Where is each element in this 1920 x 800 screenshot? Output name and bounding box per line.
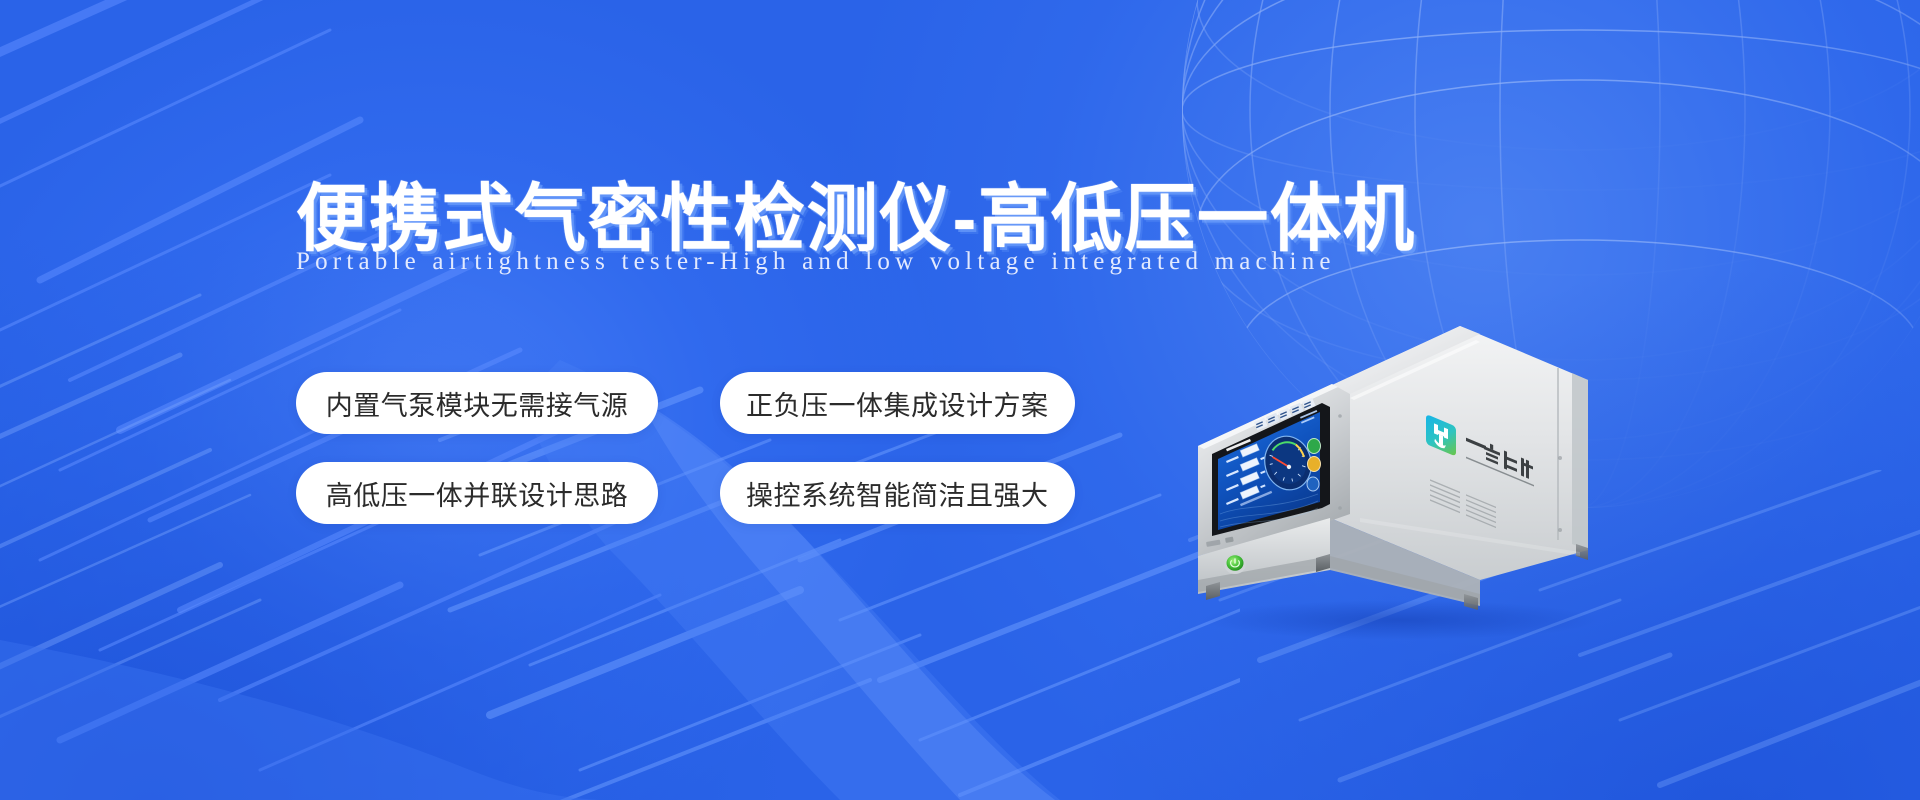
banner-stage: 便携式气密性检测仪-高低压一体机 Portable airtightness t… bbox=[0, 0, 1920, 800]
page-subtitle: Portable airtightness tester-High and lo… bbox=[296, 248, 1696, 276]
product-image-airtightness-tester bbox=[1180, 318, 1610, 618]
power-button bbox=[1224, 554, 1246, 574]
feature-pill-integrated-design[interactable]: 正负压一体集成设计方案 bbox=[720, 372, 1075, 434]
banner-content: 便携式气密性检测仪-高低压一体机 Portable airtightness t… bbox=[0, 0, 1920, 800]
feature-pill-builtin-pump[interactable]: 内置气泵模块无需接气源 bbox=[296, 372, 658, 434]
feature-pill-grid: 内置气泵模块无需接气源 正负压一体集成设计方案 高低压一体并联设计思路 操控系统… bbox=[296, 372, 1116, 524]
screen-action-buttons bbox=[1307, 439, 1321, 492]
feature-pill-row-1: 内置气泵模块无需接气源 正负压一体集成设计方案 bbox=[296, 372, 1116, 434]
feature-pill-parallel-design[interactable]: 高低压一体并联设计思路 bbox=[296, 462, 658, 524]
feature-pill-row-2: 高低压一体并联设计思路 操控系统智能简洁且强大 bbox=[296, 462, 1116, 524]
feature-pill-smart-control[interactable]: 操控系统智能简洁且强大 bbox=[720, 462, 1075, 524]
